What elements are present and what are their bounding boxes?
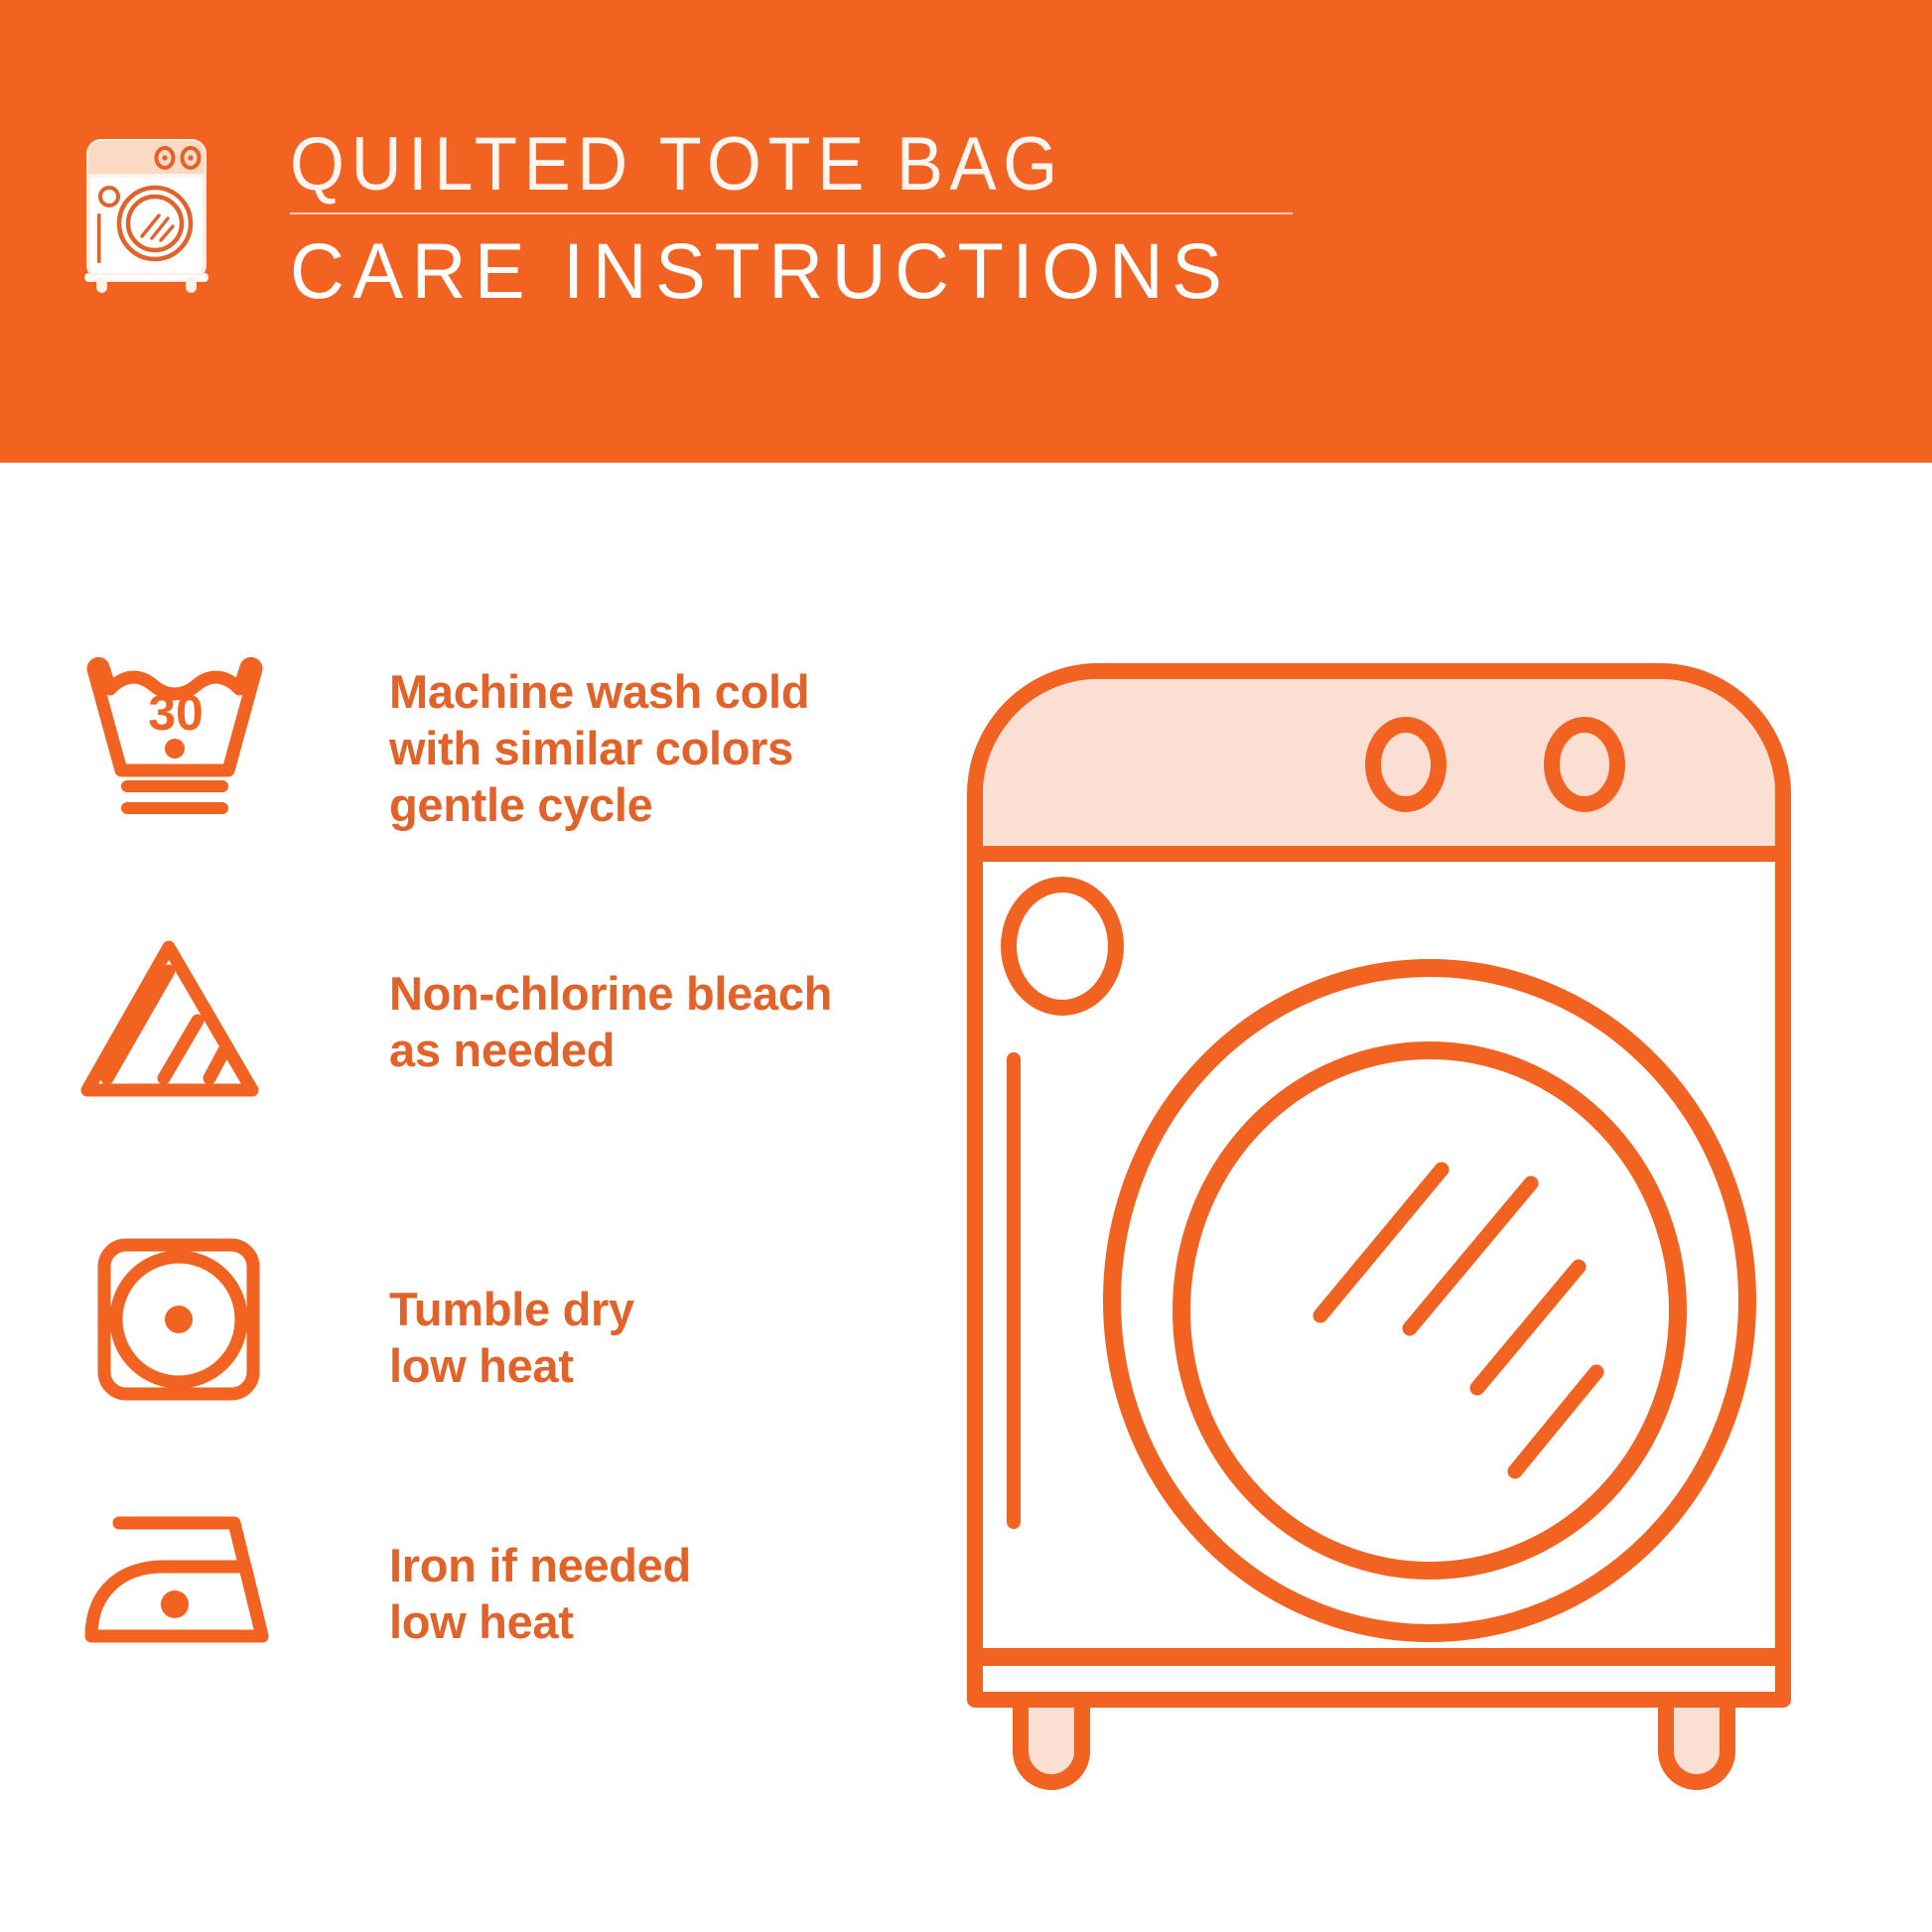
- header-content: QUILTED TOTE BAG CARE INSTRUCTIONS: [69, 124, 1311, 338]
- header-banner: QUILTED TOTE BAG CARE INSTRUCTIONS: [0, 0, 1932, 463]
- care-instructions-infographic: QUILTED TOTE BAG CARE INSTRUCTIONS 30: [0, 0, 1932, 1932]
- washing-machine-icon: [69, 129, 223, 293]
- title-divider: [290, 212, 1293, 214]
- care-line: Non-chlorine bleach: [389, 965, 832, 1022]
- washer-door-handle: [1007, 1052, 1021, 1529]
- care-line: low heat: [389, 1593, 691, 1650]
- tumble-dry-low-heat-icon: [77, 1233, 276, 1417]
- care-instruction-list: 30 Machine wash cold with similar colors…: [0, 463, 943, 1932]
- care-line: Tumble dry: [389, 1281, 634, 1337]
- washing-machine-illustration: [953, 616, 1886, 1857]
- wash-tub-30-degrees-gentle-icon: 30: [77, 645, 276, 829]
- control-knob-right: [1552, 725, 1617, 804]
- care-line: Machine wash cold: [389, 663, 809, 720]
- iron-low-heat-icon: [77, 1487, 276, 1671]
- care-item-machine-wash-label: Machine wash cold with similar colors ge…: [389, 663, 809, 833]
- non-chlorine-bleach-triangle-icon: [77, 927, 276, 1111]
- care-item-iron-label: Iron if needed low heat: [389, 1537, 691, 1650]
- control-knob-left: [1373, 725, 1439, 804]
- care-line: low heat: [389, 1337, 634, 1394]
- care-line: as needed: [389, 1022, 832, 1078]
- page-title: QUILTED TOTE BAG: [290, 124, 1232, 206]
- page-subtitle: CARE INSTRUCTIONS: [290, 228, 1262, 314]
- care-line: Iron if needed: [389, 1537, 691, 1593]
- care-item-bleach-label: Non-chlorine bleach as needed: [389, 965, 832, 1078]
- care-item-tumble-dry-label: Tumble dry low heat: [389, 1281, 634, 1394]
- header-title-group: QUILTED TOTE BAG CARE INSTRUCTIONS: [290, 124, 1303, 314]
- care-line: with similar colors: [389, 720, 809, 776]
- wash-temperature-value: 30: [148, 685, 204, 741]
- care-line: gentle cycle: [389, 776, 809, 833]
